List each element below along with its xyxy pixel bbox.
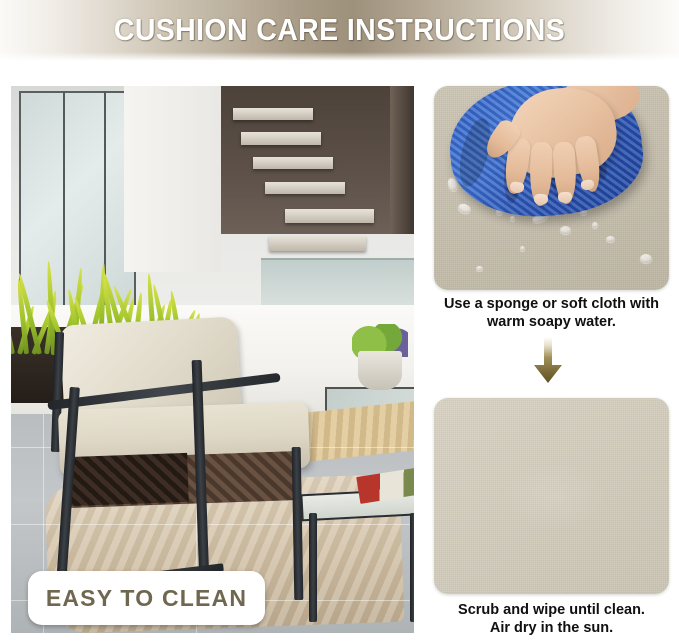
fabric-highlight: [500, 461, 608, 532]
chair-wicker-base-shadow: [67, 453, 190, 506]
stair-step: [233, 108, 314, 120]
stair-step: [269, 236, 366, 250]
water-droplet: [592, 222, 598, 228]
clean-fabric-panel: [434, 398, 669, 594]
header-banner: CUSHION CARE INSTRUCTIONS: [0, 0, 679, 62]
step-wipe-caption: Use a sponge or soft cloth with warm soa…: [424, 295, 679, 331]
step-dry-caption: Scrub and wipe until clean. Air dry in t…: [424, 601, 679, 637]
easy-to-clean-badge: EASY TO CLEAN: [28, 571, 265, 625]
stair-step: [241, 132, 322, 144]
stair-step: [265, 182, 346, 194]
step-dry-caption-line2: Air dry in the sun.: [424, 619, 679, 637]
water-droplet: [606, 236, 615, 242]
water-droplet: [560, 226, 571, 234]
floor-tile-line: [11, 524, 414, 525]
water-droplet: [476, 266, 483, 271]
wall-white: [124, 86, 221, 272]
step-dry-caption-line1: Scrub and wipe until clean.: [424, 601, 679, 619]
step-wipe-caption-line1: Use a sponge or soft cloth with: [424, 295, 679, 313]
water-droplet: [640, 254, 652, 263]
water-droplet: [510, 216, 515, 221]
easy-to-clean-label: EASY TO CLEAN: [46, 585, 247, 612]
step-wipe-caption-line2: warm soapy water.: [424, 313, 679, 331]
down-arrow-icon: [533, 337, 563, 383]
background-dark-edge: [390, 86, 414, 234]
page-title: CUSHION CARE INSTRUCTIONS: [27, 12, 652, 48]
patio-chair-photo: [11, 86, 414, 633]
water-droplet: [520, 246, 525, 251]
stair-step: [253, 157, 334, 169]
side-table-leg: [410, 513, 414, 622]
side-table-leg: [309, 513, 317, 622]
stair-step: [285, 209, 374, 223]
flower-pot: [358, 351, 402, 389]
sponge-cloth-panel: [434, 86, 669, 290]
